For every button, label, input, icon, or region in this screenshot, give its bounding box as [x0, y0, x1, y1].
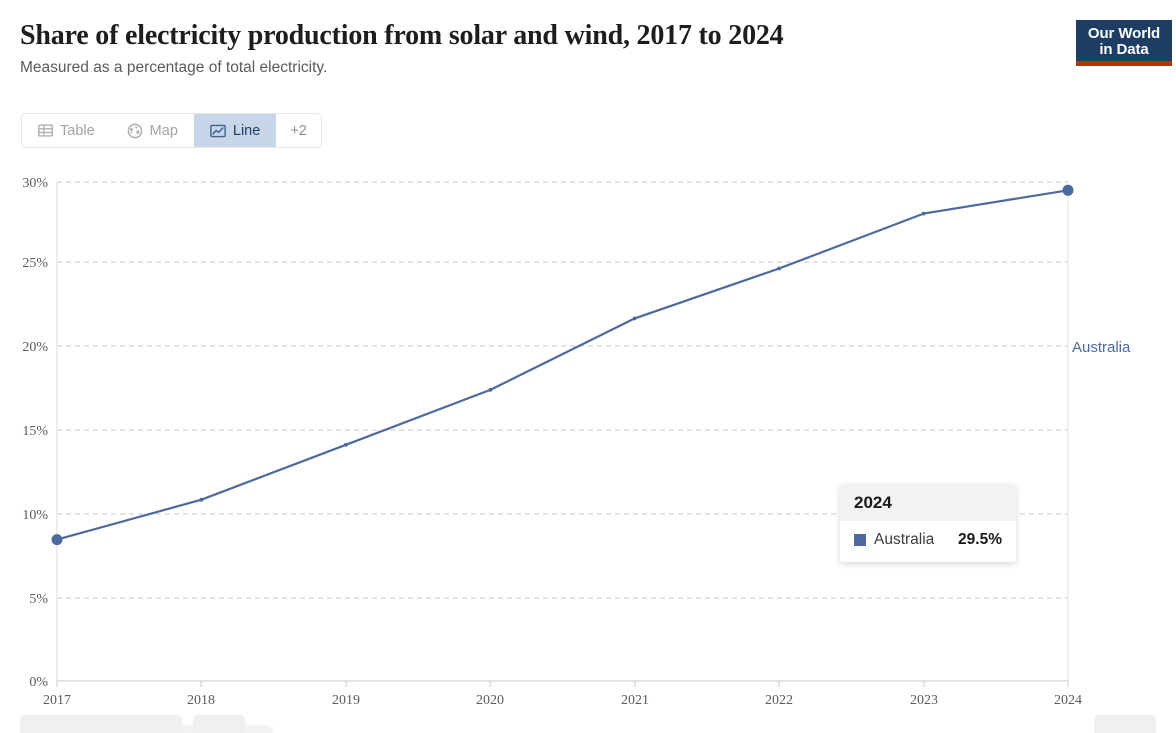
y-tick-label: 30% — [22, 176, 48, 191]
tooltip-row: Australia 29.5% — [840, 521, 1016, 562]
data-point[interactable] — [52, 534, 63, 545]
footer-control-middle[interactable] — [193, 715, 245, 733]
data-point[interactable] — [922, 212, 926, 216]
line-chart: 30% 25% 20% 15% 10% 5% 0% 2017 2018 2019… — [0, 160, 1176, 705]
x-tick-label: 2018 — [187, 693, 215, 705]
chart-page: Share of electricity production from sol… — [0, 0, 1176, 733]
data-point[interactable] — [777, 267, 781, 271]
line-chart-icon — [210, 123, 226, 139]
globe-icon — [127, 123, 143, 139]
x-tick-label: 2022 — [765, 693, 793, 705]
chart-header: Share of electricity production from sol… — [20, 20, 1060, 78]
tooltip-value: 29.5% — [958, 531, 1002, 549]
tab-table-label: Table — [60, 123, 95, 139]
page-title: Share of electricity production from sol… — [20, 20, 1060, 51]
y-tick-label: 5% — [29, 592, 48, 607]
x-tick-label: 2019 — [332, 693, 360, 705]
tab-line-label: Line — [233, 123, 260, 139]
tab-map[interactable]: Map — [111, 114, 194, 147]
tooltip-entity: Australia — [874, 531, 950, 549]
x-tick-label: 2024 — [1054, 693, 1082, 705]
y-tick-label: 0% — [29, 675, 48, 690]
data-point[interactable] — [200, 498, 204, 502]
tooltip-year: 2024 — [840, 484, 1016, 521]
y-tick-label: 10% — [22, 508, 48, 523]
x-tick-label: 2017 — [43, 693, 71, 705]
y-tick-label: 20% — [22, 340, 48, 355]
data-point[interactable] — [1063, 185, 1074, 196]
footer-control-right[interactable] — [1094, 715, 1156, 733]
gridlines — [57, 182, 1068, 681]
series-color-swatch — [854, 534, 866, 546]
tab-map-label: Map — [150, 123, 178, 139]
series-end-label[interactable]: Australia — [1072, 339, 1130, 356]
tab-line[interactable]: Line — [194, 114, 276, 147]
x-tick-label: 2020 — [476, 693, 504, 705]
tab-more-label: +2 — [290, 123, 307, 139]
y-tick-label: 15% — [22, 424, 48, 439]
x-tick-label: 2023 — [910, 693, 938, 705]
data-point[interactable] — [633, 317, 637, 321]
logo-line-1: Our World — [1088, 26, 1160, 42]
x-tick-label: 2021 — [621, 693, 649, 705]
y-axis-tick-labels: 30% 25% 20% 15% 10% 5% 0% — [22, 176, 48, 690]
y-tick-label: 25% — [22, 256, 48, 271]
data-point[interactable] — [488, 388, 492, 392]
chart-view-tabs: Table Map Line +2 — [21, 113, 322, 148]
data-point[interactable] — [344, 443, 348, 447]
our-world-in-data-logo[interactable]: Our World in Data — [1076, 20, 1172, 66]
tab-more-views[interactable]: +2 — [276, 114, 321, 147]
tab-table[interactable]: Table — [22, 114, 111, 147]
table-icon — [38, 123, 53, 138]
footer-control-left[interactable] — [20, 715, 182, 733]
logo-line-2: in Data — [1099, 42, 1148, 58]
page-subtitle: Measured as a percentage of total electr… — [20, 58, 1060, 77]
x-axis-tick-labels: 2017 2018 2019 2020 2021 2022 2023 2024 — [43, 693, 1082, 705]
tooltip-2024: 2024 Australia 29.5% — [840, 484, 1016, 562]
x-axis-ticks — [57, 681, 1068, 687]
chart-svg: 30% 25% 20% 15% 10% 5% 0% 2017 2018 2019… — [0, 160, 1176, 705]
